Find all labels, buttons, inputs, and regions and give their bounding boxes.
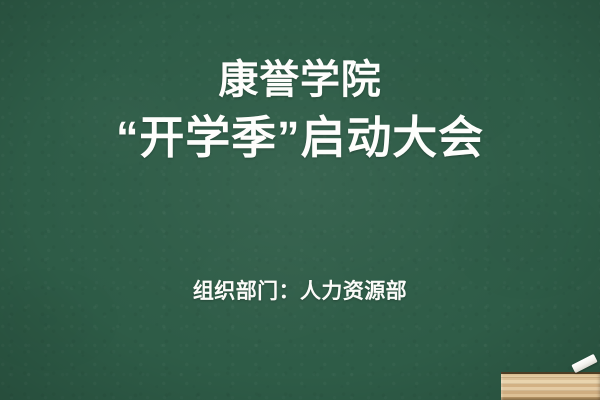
slide-content: 康誉学院 “开学季”启动大会 组织部门：人力资源部	[0, 0, 600, 400]
chalkboard-slide: 康誉学院 “开学季”启动大会 组织部门：人力资源部	[0, 0, 600, 400]
title-line-2: “开学季”启动大会	[0, 111, 600, 166]
chalk-ledge-wood-grain	[501, 374, 600, 400]
chalk-ledge	[501, 372, 600, 400]
title-line-1: 康誉学院	[0, 56, 600, 105]
subtitle-organizing-department: 组织部门：人力资源部	[0, 275, 600, 305]
page-title: 康誉学院 “开学季”启动大会	[0, 56, 600, 166]
